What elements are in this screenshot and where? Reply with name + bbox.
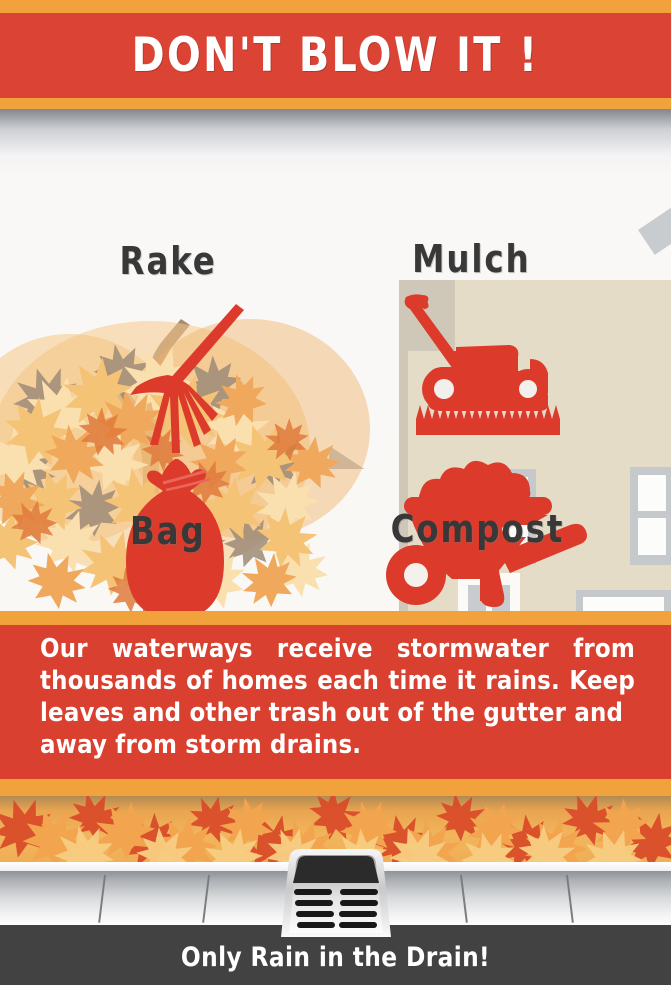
tool-label-rake: Rake xyxy=(120,239,217,283)
header-top-accent-band xyxy=(0,0,671,13)
page-title: DON'T BLOW IT ! xyxy=(20,13,651,98)
message-body-main: Our waterways receive stormwater from th… xyxy=(40,634,635,728)
sidewalk-joint xyxy=(202,875,210,923)
sidewalk-joint xyxy=(566,875,574,923)
lawn-mower-icon xyxy=(398,287,578,437)
message-body-last-line: away from storm drains. xyxy=(40,729,635,761)
sidewalk-joint xyxy=(460,875,468,923)
message-bottom-accent-band xyxy=(0,779,671,796)
tool-label-mulch: Mulch xyxy=(412,237,530,281)
footer-slogan: Only Rain in the Drain! xyxy=(13,934,657,980)
message-top-accent-band xyxy=(0,611,671,625)
illustration-scene: Rake Mulch Bag Compost xyxy=(0,109,671,612)
sidewalk-joint xyxy=(98,875,106,923)
tool-label-compost: Compost xyxy=(391,507,565,551)
poster-canvas: DON'T BLOW IT ! xyxy=(0,0,671,985)
tool-label-bag: Bag xyxy=(130,509,206,553)
header-bottom-accent-band xyxy=(0,98,671,109)
storm-drain-grate xyxy=(263,845,409,937)
message-body: Our waterways receive stormwater from th… xyxy=(40,633,635,773)
